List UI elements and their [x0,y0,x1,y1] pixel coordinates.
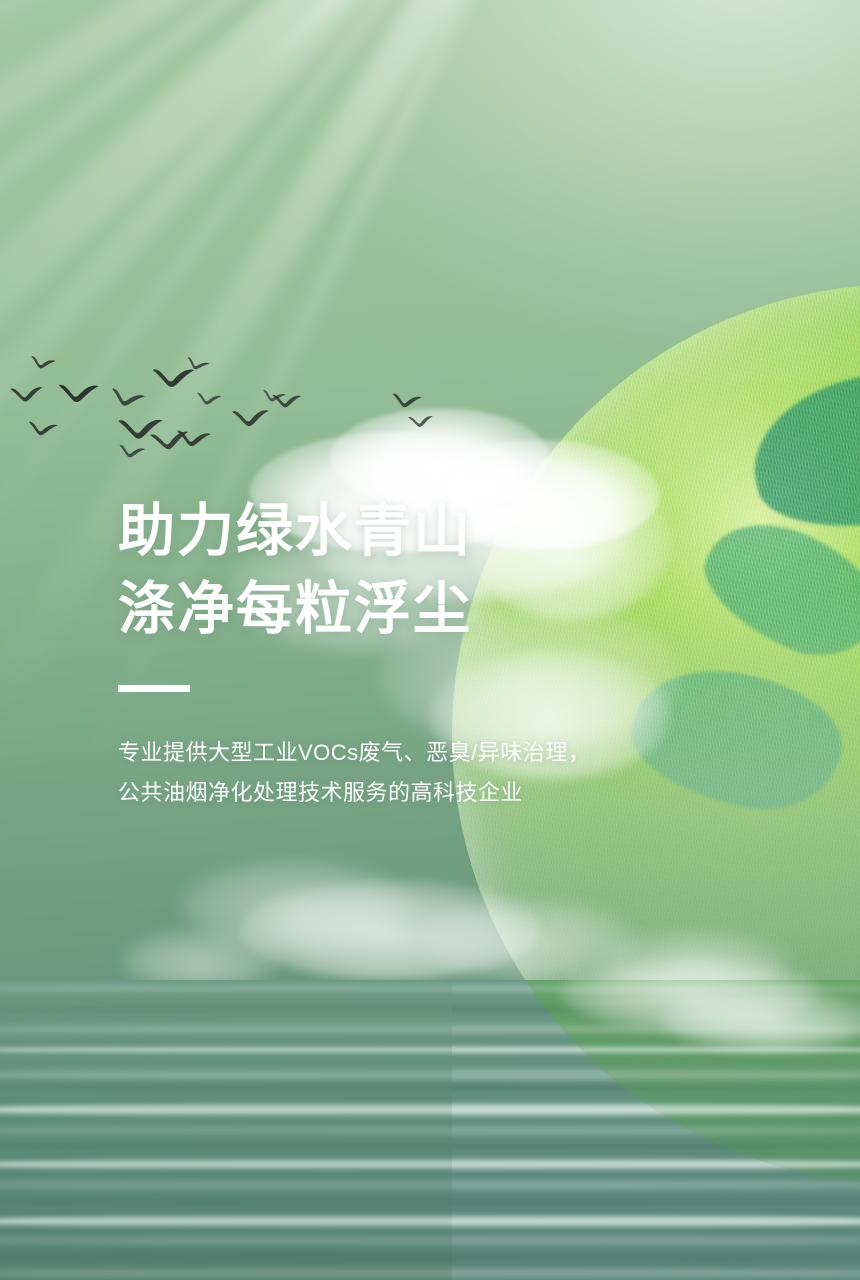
bird-icon [407,411,435,430]
reflection-ripples [452,980,860,1280]
bird-icon [391,389,422,410]
reflection-ripple [452,1068,860,1082]
bird-icon [195,389,222,407]
bird-icon [108,383,147,411]
reflection-ripple [452,1214,860,1229]
poster-canvas: 助力绿水青山 涤净每粒浮尘 专业提供大型工业VOCs废气、恶臭/异味治理， 公共… [0,0,860,1280]
reflection-ripple [452,1084,860,1091]
reflection-ripple [452,1006,860,1013]
reflection-ripple [452,1236,860,1245]
headline-line-2: 涤净每粒浮尘 [118,570,678,648]
bird-icon [58,377,101,404]
subtitle-line-2: 公共油烟净化处理技术服务的高科技企业 [118,773,678,813]
reflection-ripple [452,1126,860,1135]
reflection-ripple [452,1254,860,1261]
bird-icon [117,441,147,461]
reflection-ripple [452,984,860,993]
reflection-ripple [452,1024,860,1035]
bird-icon [272,389,303,409]
reflection-ripple [452,1268,860,1279]
reflection-ripple [452,1198,860,1206]
bird-icon [151,361,196,390]
divider-rule [118,685,190,692]
bird-icon [27,417,58,438]
reflection-ripple [452,1102,860,1118]
reflection-ripple [452,1180,860,1190]
bird-icon [176,425,213,448]
hero-copy: 助力绿水青山 涤净每粒浮尘 专业提供大型工业VOCs废气、恶臭/异味治理， 公共… [118,492,678,813]
bird-flock [0,330,470,460]
reflection-ripple [452,1046,860,1054]
reflection-ripple [452,1158,860,1171]
subtitle-line-1: 专业提供大型工业VOCs废气、恶臭/异味治理， [118,733,678,773]
bird-icon [29,352,57,371]
bird-icon [9,380,45,404]
reflection-ripple [452,1142,860,1149]
globe-reflection [452,980,860,1280]
headline-line-1: 助力绿水青山 [118,492,678,570]
bird-icon [231,402,271,429]
